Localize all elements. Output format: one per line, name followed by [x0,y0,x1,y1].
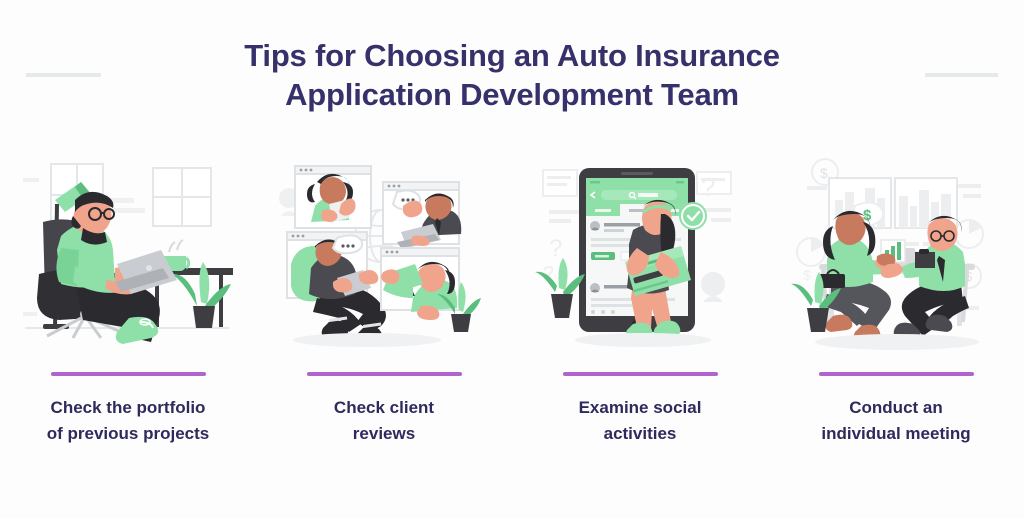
column-divider [307,372,462,376]
header: Tips for Choosing an Auto Insurance Appl… [0,0,1024,140]
tip-caption-social-activities: Examine social activities [525,395,755,447]
caption-line-2: activities [525,421,755,447]
two-people-meeting-at-table-illustration: $ $ $ [789,156,1003,356]
column-divider [51,372,206,376]
caption-line-1: Check the portfolio [13,395,243,421]
caption-line-1: Check client [269,395,499,421]
tip-column-portfolio: Check the portfolio of previous projects [0,156,256,466]
svg-text:?: ? [701,172,715,202]
caption-line-2: individual meeting [781,421,1011,447]
tip-caption-client-reviews: Check client reviews [269,395,499,447]
tablet-social-feed-woman-illustration: ? ? ? [533,156,747,356]
column-divider [819,372,974,376]
caption-line-2: of previous projects [13,421,243,447]
infographic-page: Tips for Choosing an Auto Insurance Appl… [0,0,1024,518]
tip-column-social-activities: ? ? ? [512,156,768,466]
tip-caption-individual-meeting: Conduct an individual meeting [781,395,1011,447]
tip-column-client-reviews: Check client reviews [256,156,512,466]
svg-text:$: $ [820,165,828,181]
tips-columns: Check the portfolio of previous projects [0,156,1024,466]
page-title-line-1: Tips for Choosing an Auto Insurance [0,36,1024,75]
tip-column-individual-meeting: $ $ $ [768,156,1024,466]
svg-text:?: ? [549,235,562,262]
page-title-line-2: Application Development Team [0,75,1024,114]
caption-line-2: reviews [269,421,499,447]
person-on-armchair-with-laptop-illustration [21,156,235,356]
caption-line-1: Examine social [525,395,755,421]
tip-caption-portfolio: Check the portfolio of previous projects [13,395,243,447]
column-divider [563,372,718,376]
caption-line-1: Conduct an [781,395,1011,421]
page-title: Tips for Choosing an Auto Insurance Appl… [0,36,1024,114]
svg-text:$: $ [803,267,811,283]
video-call-windows-people-illustration [277,156,491,356]
